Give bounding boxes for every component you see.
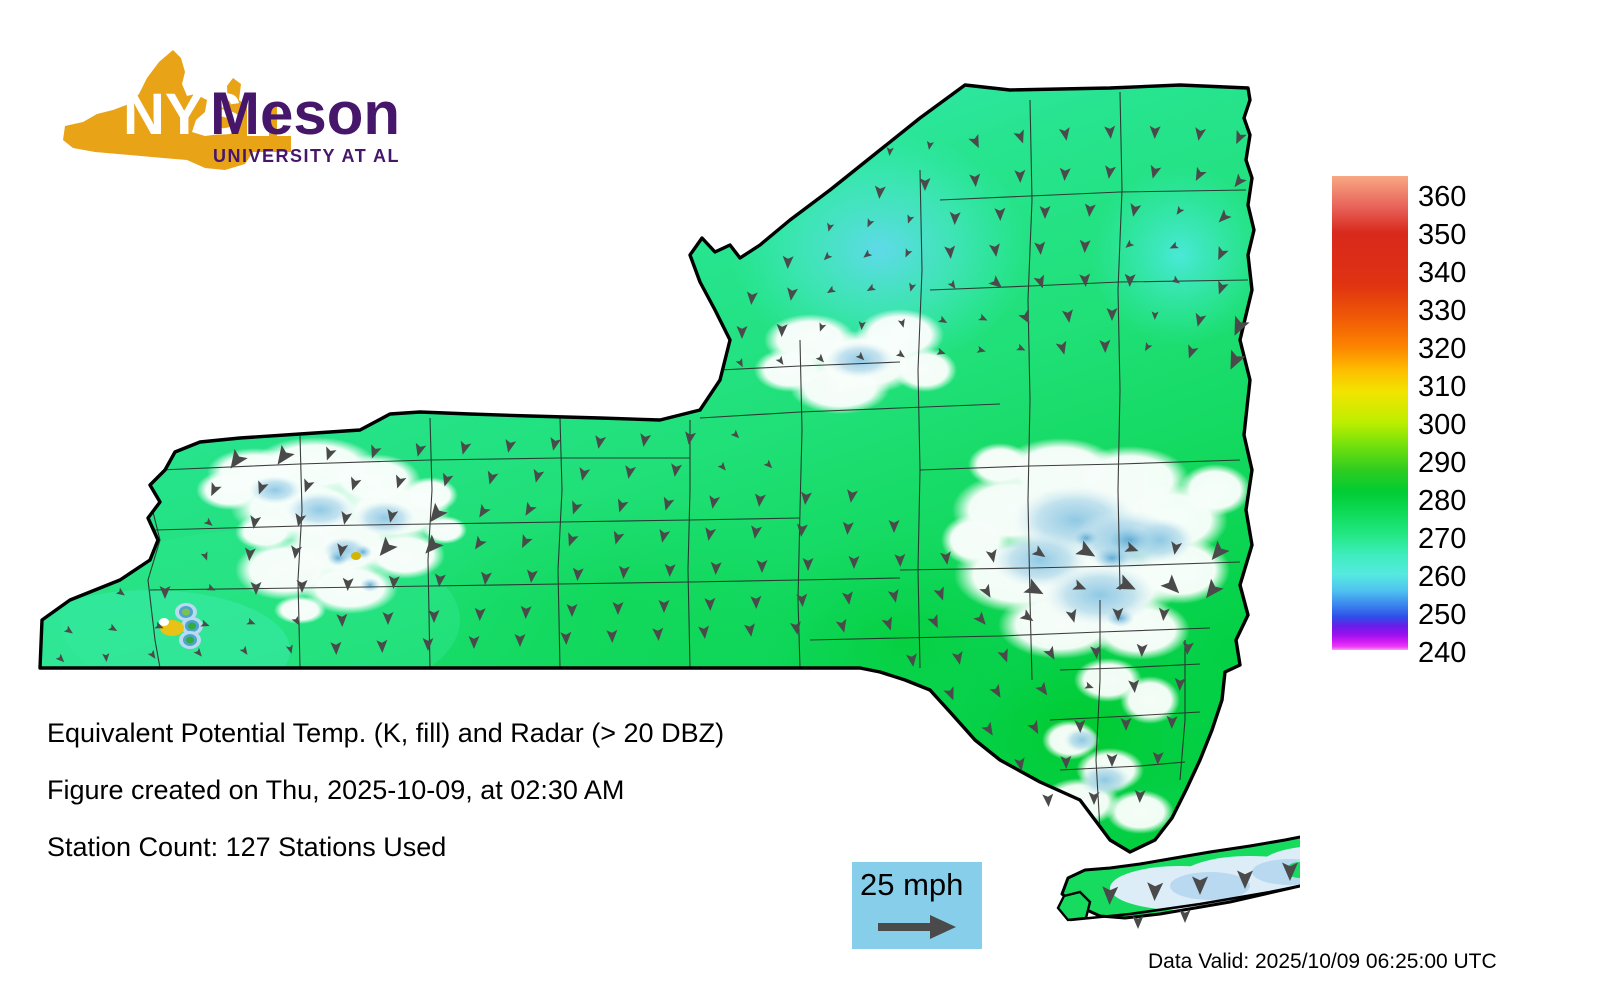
- wind-legend-label: 25 mph: [860, 867, 963, 903]
- caption-created: Figure created on Thu, 2025-10-09, at 02…: [47, 775, 724, 806]
- colorbar-tick-240: 240: [1418, 639, 1466, 668]
- staten-island-shape: [1058, 892, 1090, 920]
- wind-speed-legend: 25 mph: [852, 862, 982, 949]
- colorbar-tick-250: 250: [1418, 601, 1466, 630]
- weather-map-figure: NYS Mesonet UNIVERSITY AT ALBANY: [0, 0, 1600, 1000]
- right-arrow-icon: [878, 914, 958, 945]
- colorbar-tick-280: 280: [1418, 487, 1466, 516]
- colorbar-tick-350: 350: [1418, 221, 1466, 250]
- colorbar-tick-270: 270: [1418, 525, 1466, 554]
- colorbar-tick-labels: 360350340330320310300290280270260250240: [1418, 176, 1538, 666]
- colorbar-tick-260: 260: [1418, 563, 1466, 592]
- colorbar-tick-360: 360: [1418, 183, 1466, 212]
- colorbar-tick-340: 340: [1418, 259, 1466, 288]
- colorbar-tick-290: 290: [1418, 449, 1466, 478]
- colorbar-tick-310: 310: [1418, 373, 1466, 402]
- caption-title: Equivalent Potential Temp. (K, fill) and…: [47, 718, 724, 749]
- data-valid-timestamp: Data Valid: 2025/10/09 06:25:00 UTC: [1148, 950, 1497, 974]
- colorbar-tick-300: 300: [1418, 411, 1466, 440]
- colorbar: [1332, 176, 1408, 650]
- caption-block: Equivalent Potential Temp. (K, fill) and…: [47, 718, 724, 889]
- long-island-layer: [1040, 810, 1300, 940]
- colorbar-tick-330: 330: [1418, 297, 1466, 326]
- caption-station-count: Station Count: 127 Stations Used: [47, 832, 724, 863]
- colorbar-tick-320: 320: [1418, 335, 1466, 364]
